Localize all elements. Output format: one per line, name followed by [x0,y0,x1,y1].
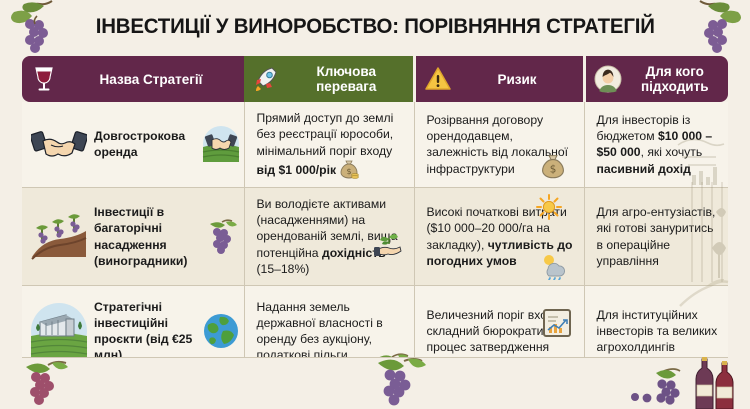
seedling-in-hand-icon [374,228,404,258]
audience-text-plain-2: , які хочуть [641,145,703,159]
cell-audience: Для інвесторів із бюджетом $10 000 – $50… [584,102,728,187]
cell-risk: Високі початкові витрати ($10 000–20 000… [414,187,584,285]
handshake-field-icon [202,125,240,163]
strategy-name-label: Стратегічні інвестиційні проєкти (від €2… [94,300,192,363]
cell-strategy-name: Довгострокова оренда [22,102,244,187]
column-header-label: Назва Стратегії [100,72,203,87]
sun-behind-rain-cloud-icon [538,252,570,280]
rocket-icon [252,65,280,93]
bar-chart-frame-icon [542,308,572,338]
cell-key-advantage: Ви володієте активами (насадженнями) на … [244,187,414,285]
strategy-comparison-table: Назва Стратегії Ключова перевага [22,56,728,376]
handshake-icon [30,118,88,170]
warning-triangle-icon [424,65,452,93]
money-bag-icon: $ [540,153,566,179]
advantage-text-plain-2: (15–18%) [257,262,310,276]
winery-building-icon [30,305,88,357]
audience-income-bold: пасивний дохід [597,162,691,176]
strategy-name-label: Довгострокова оренда [94,129,185,159]
advantage-text-plain: Прямий доступ до землі без реєстрації юр… [257,111,394,158]
advantage-text-bold: від $1 000/рік [257,163,337,177]
table-header-row: Назва Стратегії Ключова перевага [22,56,728,102]
footer-decoration-band [0,357,750,409]
title-bar: ІНВЕСТИЦІЇ У ВИНОРОБСТВО: ПОРІВНЯННЯ СТР… [0,0,750,52]
table-row: Довгострокова оренда Прямий доступ до зе… [22,102,728,187]
audience-text: Для інституційних інвесторів та великих … [597,308,718,355]
globe-icon [202,312,240,350]
cell-risk: Розірвання договору орендодавцем, залежн… [414,102,584,187]
grape-cluster-small-icon [630,365,700,407]
column-header-label: Ключова перевага [316,64,376,94]
grape-bunch-icon [202,218,240,256]
audience-text: Для агро-ентузіастів, які готові занурит… [597,205,716,268]
wine-bottles-icon [694,357,750,409]
grape-cluster-red-icon [18,359,90,407]
grape-cluster-purple-icon [368,357,446,407]
svg-text:$: $ [549,163,556,175]
svg-text:$: $ [347,167,352,176]
cell-key-advantage: Прямий доступ до землі без реєстрації юр… [244,102,414,187]
money-bag-icon: $ [339,159,359,179]
cell-audience: Для агро-ентузіастів, які готові занурит… [584,187,728,285]
advantage-text: Надання земель державної власності в оре… [257,300,383,363]
strategy-name-label: Інвестиції в багаторічні насадження (вин… [94,205,187,268]
column-header-label: Для кого підходить [641,64,709,94]
column-header-key-advantage: Ключова перевага [244,56,414,102]
person-avatar-icon [594,65,622,93]
column-header-audience: Для кого підходить [584,56,728,102]
cell-strategy-name: Інвестиції в багаторічні насадження (вин… [22,187,244,285]
wine-glass-icon [30,65,58,93]
vineyard-rows-icon [30,211,88,263]
table-row: Інвестиції в багаторічні насадження (вин… [22,187,728,285]
column-header-label: Ризик [497,72,536,87]
page-title: ІНВЕСТИЦІЇ У ВИНОРОБСТВО: ПОРІВНЯННЯ СТР… [95,14,654,39]
sun-icon [536,194,562,220]
column-header-strategy-name: Назва Стратегії [22,56,244,102]
column-header-risk: Ризик [414,56,584,102]
